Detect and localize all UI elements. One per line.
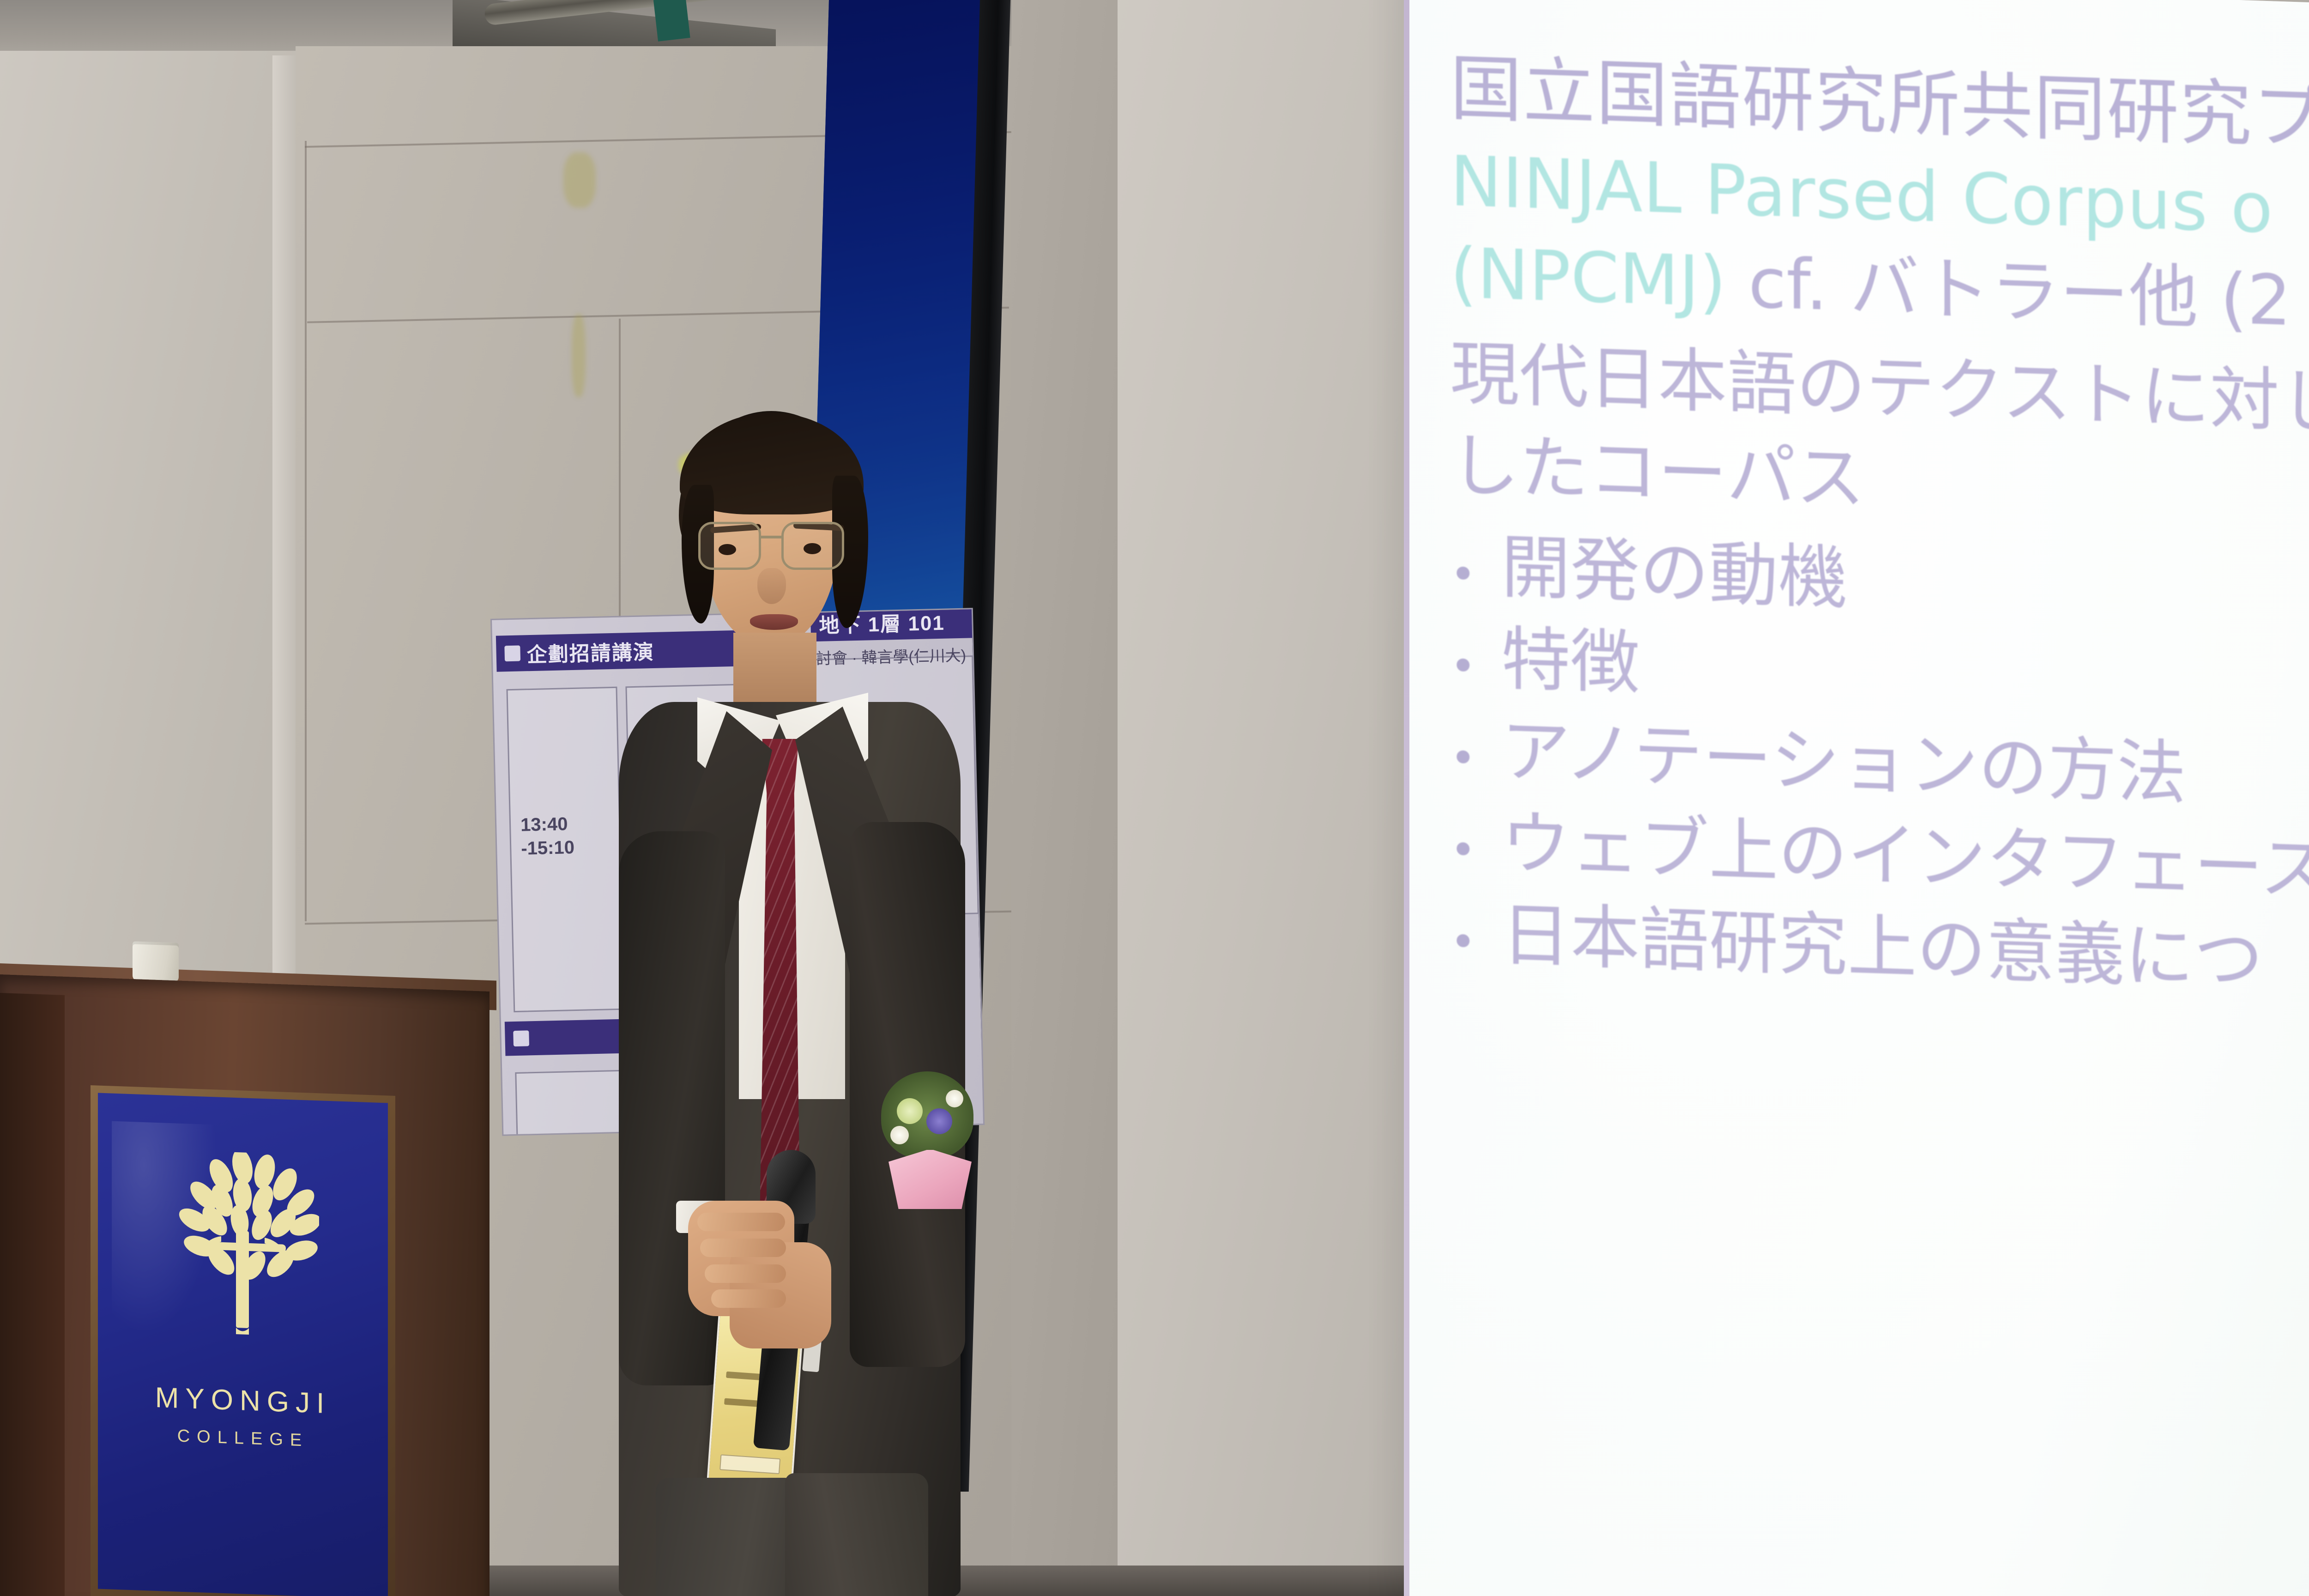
bullet-dot-icon: •: [1450, 552, 1476, 597]
wall-stain: [572, 314, 586, 397]
bullet-dot-icon: •: [1450, 828, 1476, 873]
wall-stain: [563, 152, 596, 208]
projected-slide: 国立国語研究所共同研究プ NINJAL Parsed Corpus o (NPC…: [1422, 0, 2309, 1596]
presentation-photo-scene: 企劃招請講演 地下 1層 101 13:40 -15:10 討會 · 韓言學(仁…: [0, 0, 2309, 1596]
bullet-dot-icon: •: [1450, 919, 1476, 965]
corsage-flower: [946, 1090, 963, 1107]
trouser-leg-right: [785, 1473, 928, 1596]
corsage-flower: [897, 1098, 923, 1124]
flower-corsage-icon: [876, 1071, 978, 1210]
trouser-leg-left: [656, 1478, 794, 1596]
wall-far: [1108, 0, 1441, 1596]
corsage-flower: [890, 1126, 909, 1144]
eye-right: [804, 543, 821, 554]
corsage-flower: [926, 1108, 952, 1134]
podium-plaque-frame: MYONGJI COLLEGE: [91, 1085, 395, 1596]
speaker-figure: [480, 416, 1081, 1596]
finger: [711, 1289, 786, 1308]
finger: [705, 1264, 786, 1283]
bullet-text: 開発の動機: [1501, 532, 1848, 615]
eye-left: [719, 544, 736, 555]
podium-institution-name: MYONGJI: [98, 1379, 388, 1422]
slide-abbrev: (NPCMJ): [1450, 233, 1726, 323]
bullet-dot-icon: •: [1450, 644, 1476, 689]
wall-seam: [305, 141, 307, 921]
bullet-dot-icon: •: [1450, 736, 1476, 781]
podium-side-face: [0, 993, 65, 1596]
tree-logo-icon: [167, 1150, 319, 1354]
glasses-bridge: [761, 536, 783, 538]
certificate-box: [719, 1454, 780, 1474]
finger: [697, 1213, 785, 1231]
bullet-text: 特徴: [1501, 624, 1640, 700]
pipe-band-marker: [653, 0, 690, 42]
mouth: [750, 614, 798, 630]
podium-institution-sub: COLLEGE: [98, 1424, 388, 1454]
nose: [757, 568, 786, 604]
corsage-ribbon: [889, 1150, 972, 1209]
paper-cup: [133, 941, 179, 982]
finger: [700, 1239, 786, 1257]
podium-plaque: MYONGJI COLLEGE: [98, 1093, 388, 1596]
screen-left-edge: [1404, 0, 1409, 1596]
